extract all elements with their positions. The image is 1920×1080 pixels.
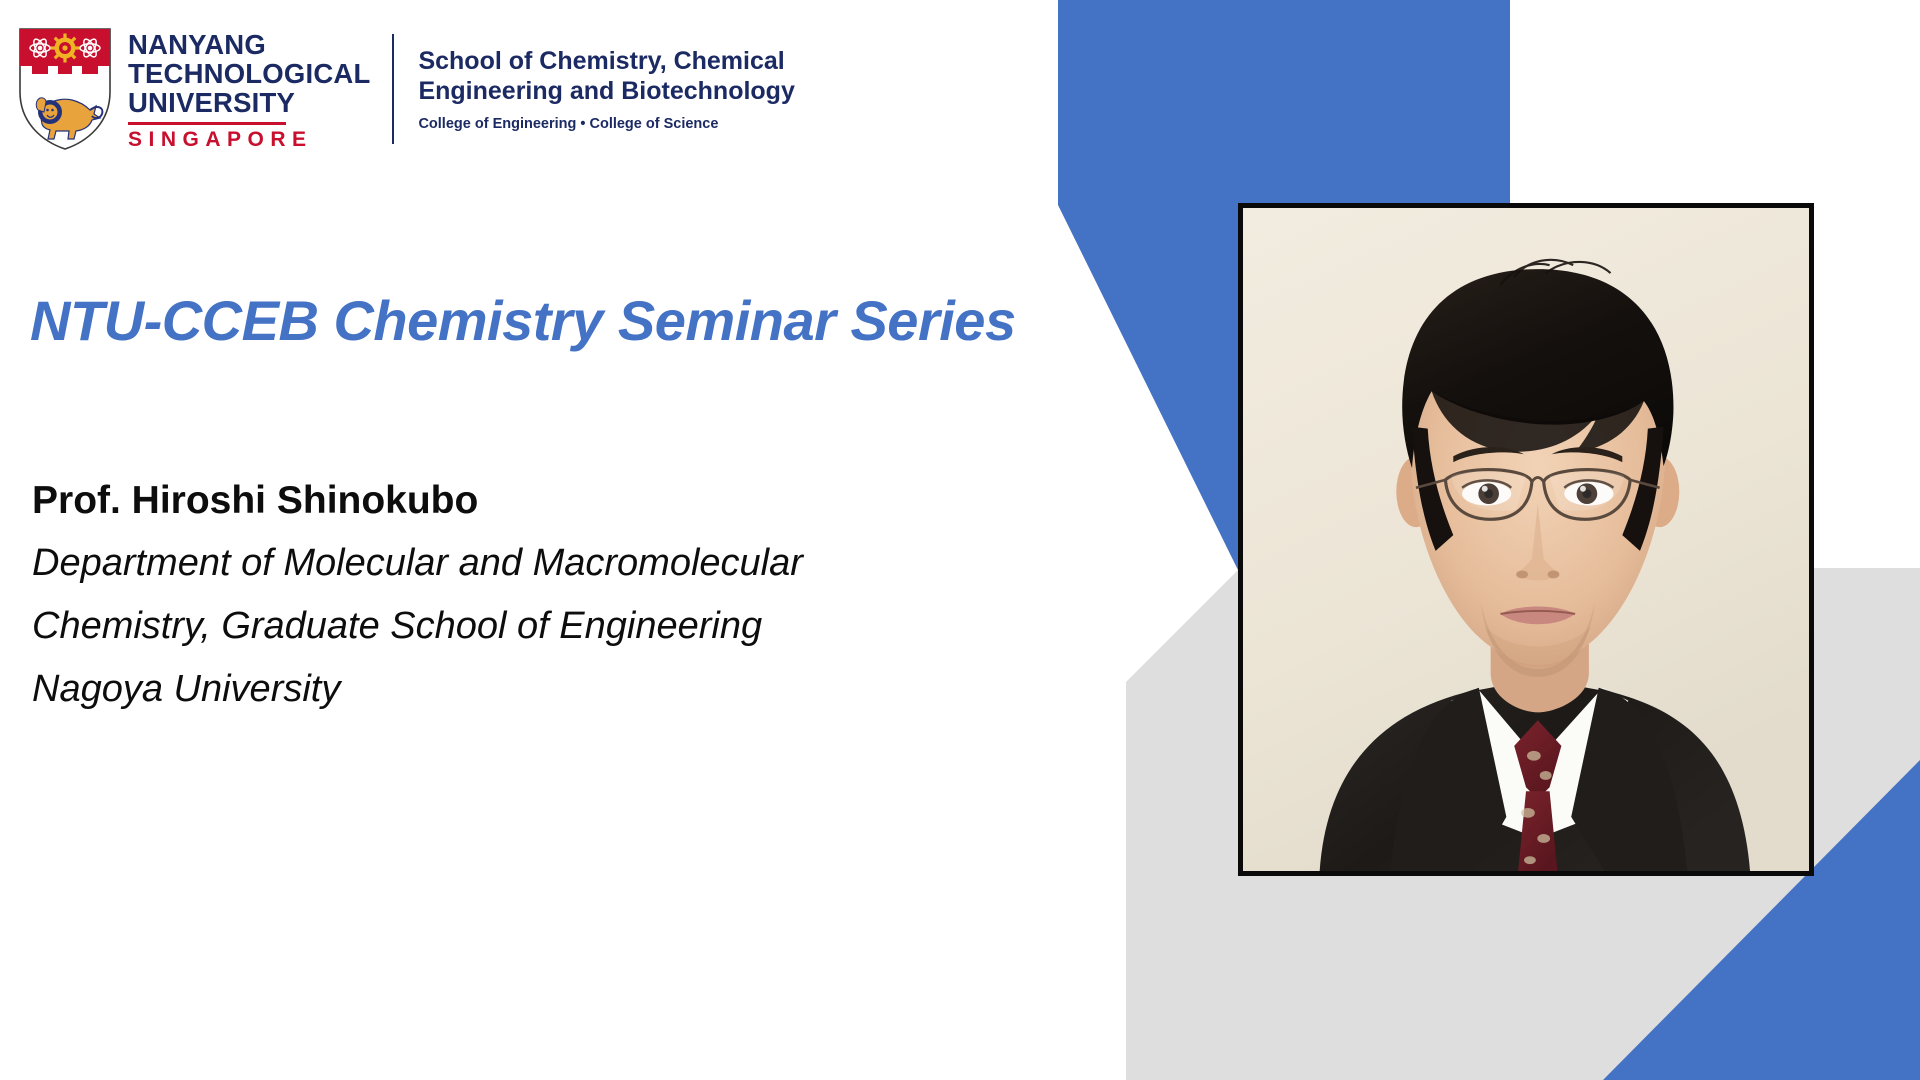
- speaker-affiliation-line-3: Nagoya University: [32, 658, 1032, 721]
- ntu-line-2: TECHNOLOGICAL: [128, 59, 370, 88]
- speaker-details: Prof. Hiroshi Shinokubo Department of Mo…: [32, 470, 1032, 721]
- school-line-2: Engineering and Biotechnology: [418, 76, 794, 106]
- seminar-series-title: NTU-CCEB Chemistry Seminar Series: [30, 288, 1016, 354]
- ntu-red-rule: [128, 122, 286, 125]
- ntu-line-3: UNIVERSITY: [128, 88, 370, 117]
- speaker-name: Prof. Hiroshi Shinokubo: [32, 470, 1032, 532]
- school-line-1: School of Chemistry, Chemical: [418, 46, 794, 76]
- ntu-cceb-logo: NANYANG TECHNOLOGICAL UNIVERSITY SINGAPO…: [0, 0, 778, 178]
- speaker-portrait: [1238, 203, 1814, 876]
- school-name-block: School of Chemistry, Chemical Engineerin…: [418, 44, 794, 134]
- speaker-affiliation-line-2: Chemistry, Graduate School of Engineerin…: [32, 595, 1032, 658]
- ntu-crest-icon: [16, 26, 114, 152]
- ntu-line-1: NANYANG: [128, 30, 370, 59]
- portrait-illustration: [1243, 208, 1809, 871]
- ntu-country-label: SINGAPORE: [128, 128, 370, 151]
- ntu-wordmark: NANYANG TECHNOLOGICAL UNIVERSITY SINGAPO…: [128, 28, 370, 151]
- logo-vertical-divider: [392, 34, 394, 144]
- speaker-affiliation-line-1: Department of Molecular and Macromolecul…: [32, 532, 1032, 595]
- school-colleges-label: College of Engineering • College of Scie…: [418, 114, 794, 134]
